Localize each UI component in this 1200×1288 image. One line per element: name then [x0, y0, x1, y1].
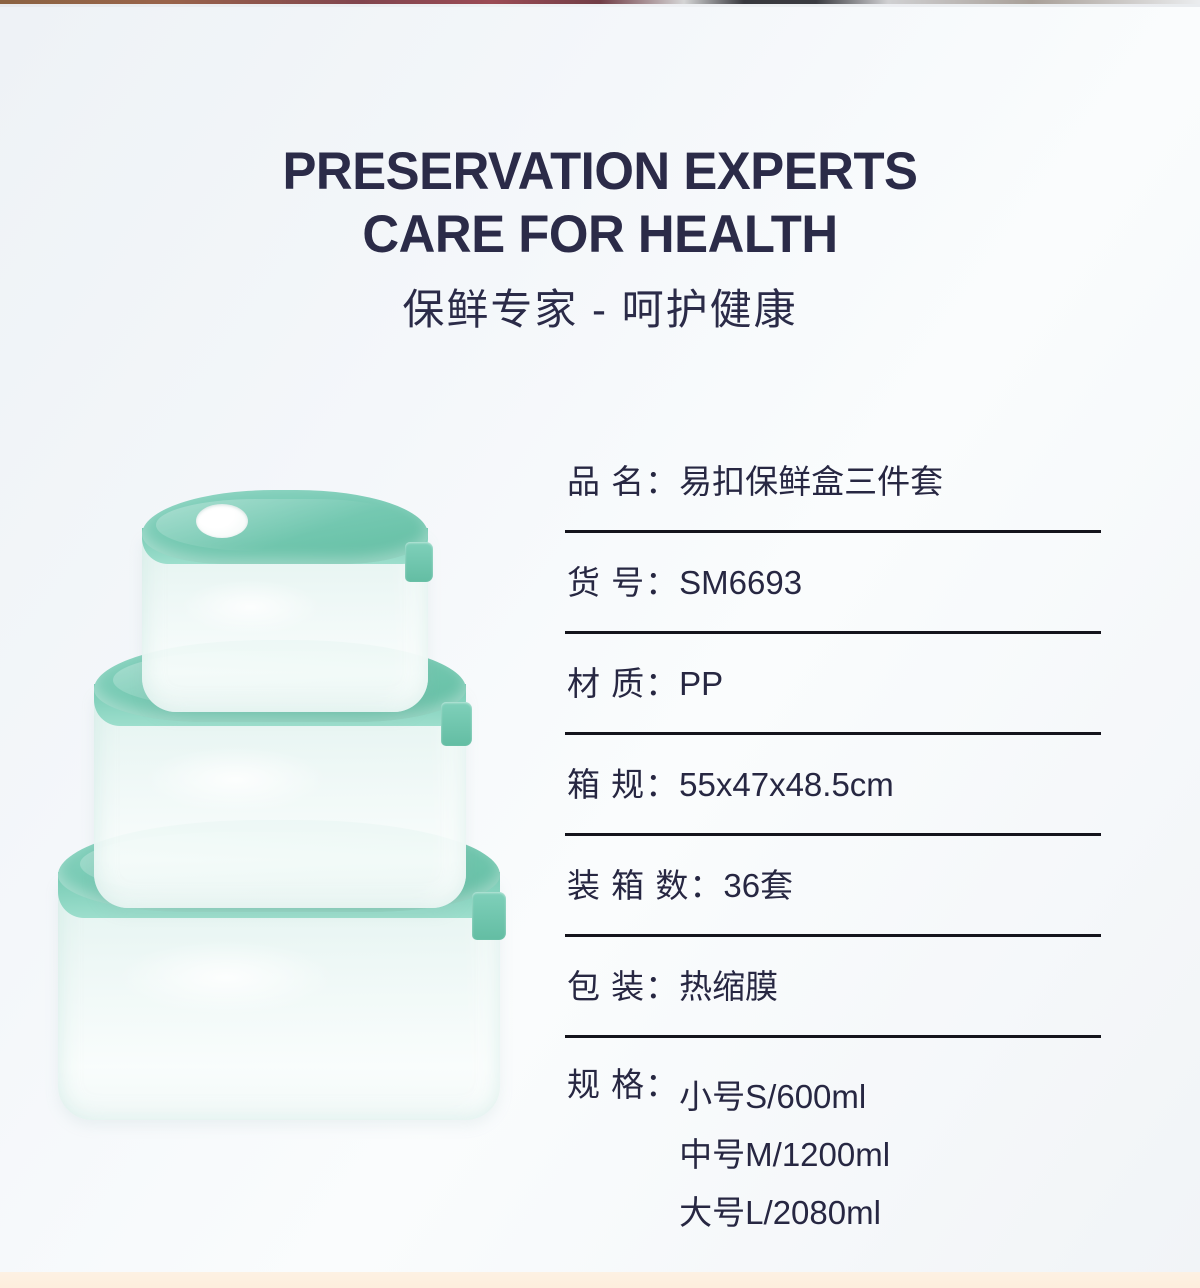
product-image [42, 470, 542, 1130]
spec-row-carton-size: 箱 规： 55x47x48.5cm [565, 732, 1101, 833]
container-large-latch [472, 892, 506, 940]
spec-row-material: 材 质： PP [565, 631, 1101, 732]
container-large-highlight [120, 941, 332, 1014]
spec-table: 品 名： 易扣保鲜盒三件套 货 号： SM6693 材 质： PP 箱 规： 5… [565, 432, 1101, 1254]
lid-vent-icon [196, 504, 248, 538]
container-small [142, 490, 428, 712]
container-small-latch [405, 542, 433, 582]
spec-value-material: PP [679, 667, 723, 700]
spec-label-product-name: 品 名： [567, 465, 679, 498]
spec-label-carton-size: 箱 规： [567, 768, 679, 801]
container-small-lid-gloss [156, 499, 413, 551]
heading-block: PRESERVATION EXPERTS CARE FOR HEALTH 保鲜专… [0, 140, 1200, 336]
top-edge-strip-secondary [0, 4, 1200, 7]
spec-label-item-number: 货 号： [567, 566, 679, 599]
headline-chinese: 保鲜专家 - 呵护健康 [0, 284, 1200, 336]
container-medium-highlight [146, 747, 325, 812]
spec-size-large: 大号L/2080ml [679, 1184, 890, 1242]
spec-value-carton-quantity: 36套 [723, 869, 793, 902]
spec-row-carton-quantity: 装 箱 数： 36套 [565, 833, 1101, 934]
spec-value-carton-size: 55x47x48.5cm [679, 768, 894, 801]
spec-label-specification: 规 格： [567, 1068, 679, 1101]
spec-row-specification: 规 格： 小号S/600ml 中号M/1200ml 大号L/2080ml [565, 1035, 1101, 1254]
spec-size-small: 小号S/600ml [679, 1068, 890, 1126]
page-background: PRESERVATION EXPERTS CARE FOR HEALTH 保鲜专… [0, 0, 1200, 1288]
spec-row-packaging: 包 装： 热缩膜 [565, 934, 1101, 1035]
spec-value-product-name: 易扣保鲜盒三件套 [679, 465, 943, 498]
spec-row-item-number: 货 号： SM6693 [565, 530, 1101, 631]
bottom-edge-strip [0, 1272, 1200, 1288]
spec-label-material: 材 质： [567, 667, 679, 700]
spec-size-medium: 中号M/1200ml [679, 1126, 890, 1184]
container-small-highlight [182, 580, 319, 633]
spec-label-carton-quantity: 装 箱 数： [567, 869, 723, 902]
headline-english-line2: CARE FOR HEALTH [24, 203, 1176, 266]
spec-label-packaging: 包 装： [567, 970, 679, 1003]
spec-value-item-number: SM6693 [679, 566, 802, 599]
headline-english-line1: PRESERVATION EXPERTS [24, 140, 1176, 203]
spec-value-packaging: 热缩膜 [679, 970, 778, 1003]
container-medium-latch [441, 702, 472, 746]
spec-row-product-name: 品 名： 易扣保鲜盒三件套 [565, 432, 1101, 530]
spec-value-specification: 小号S/600ml 中号M/1200ml 大号L/2080ml [679, 1068, 890, 1242]
